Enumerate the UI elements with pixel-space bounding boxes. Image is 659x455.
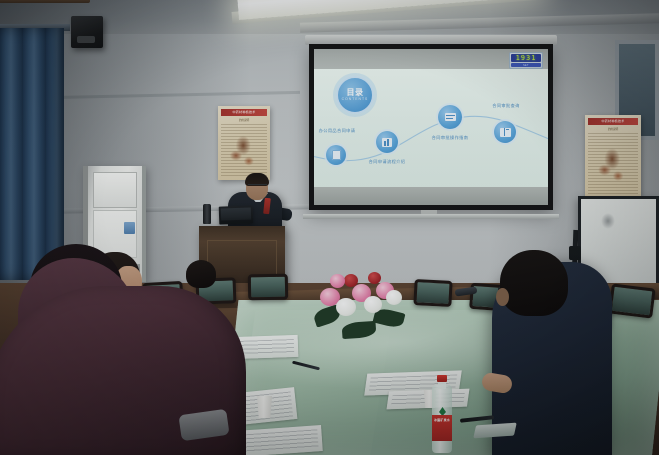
glasses-icon — [248, 184, 267, 189]
wall-poster-right: 中药材种植技术 约用说明 — [585, 115, 641, 197]
speaker-icon — [71, 16, 103, 48]
slide-step-4-node — [494, 121, 516, 143]
screen-shelf — [303, 214, 559, 219]
paper-text-lines — [239, 429, 318, 453]
poster-title: 中药材种植技术 — [588, 118, 638, 125]
bottle-label-text: 冰露矿泉水 — [432, 415, 452, 423]
slide-step-1-node — [326, 145, 346, 165]
thermos-flask[interactable] — [203, 204, 211, 224]
screen-bottom-band — [314, 187, 548, 205]
wall-poster-left: 中药材种植技术 约用说明 — [218, 106, 270, 180]
poster-subtitle: 约用说明 — [591, 127, 635, 131]
paper-cup[interactable] — [256, 396, 273, 418]
laptop[interactable] — [219, 205, 254, 224]
water-bottle[interactable]: 冰露矿泉水 — [432, 375, 452, 453]
poster-illustration — [224, 128, 264, 174]
chart-icon — [382, 138, 392, 147]
clock-face: 1931 — [511, 54, 541, 62]
conference-room-photo: 中药材种植技术 约用说明 中药材种植技术 约用说明 — [0, 0, 659, 455]
chair[interactable] — [248, 274, 288, 301]
flower-white — [336, 298, 356, 316]
contents-label-cn: 目录 — [347, 88, 364, 97]
flower-white — [386, 290, 402, 305]
bottle-cap — [437, 375, 447, 382]
attendee-far-left — [186, 260, 216, 288]
slide-step-1-label: 办公用品合同申请 — [314, 128, 360, 134]
poster-illustration — [592, 140, 635, 191]
chair[interactable] — [608, 283, 655, 318]
slide-step-3-node — [438, 105, 462, 129]
leaf — [341, 321, 376, 339]
blue-curtain — [0, 28, 64, 280]
bottle-label: 冰露矿泉水 — [432, 415, 452, 441]
whiteboard-clamp[interactable] — [569, 246, 581, 260]
clock-sub-label: SET — [523, 64, 529, 67]
projection-screen: 目录 CONTENTS 办公用品合同申请 合同申请流程介绍 合同审批操作指南 — [309, 44, 553, 210]
flower-pink — [330, 274, 345, 288]
slide-step-2-label: 合同申请流程介绍 — [362, 159, 412, 165]
poster-subtitle: 约用说明 — [224, 118, 264, 122]
open-book-icon — [500, 128, 511, 137]
slide-step-2-node — [376, 131, 398, 153]
poster-title: 中药材种植技术 — [221, 109, 267, 116]
attendee-right-head — [500, 250, 568, 316]
flower-white — [364, 296, 382, 313]
laptop-screen — [221, 207, 251, 220]
presentation-slide: 目录 CONTENTS 办公用品合同申请 合同申请流程介绍 合同审批操作指南 — [314, 69, 548, 187]
chair[interactable] — [413, 279, 452, 307]
flower-red-rose — [344, 274, 358, 287]
book-icon — [332, 150, 341, 160]
ac-vent — [93, 172, 137, 208]
clock-digits: 1931 — [516, 54, 537, 62]
slide-step-3-label: 合同审批操作指南 — [422, 135, 478, 141]
attendee-right-ear — [496, 288, 509, 306]
ac-badge-icon — [124, 222, 135, 234]
slide-contents-badge: 目录 CONTENTS — [336, 76, 374, 114]
paper-text-lines — [236, 339, 294, 356]
podium-top — [0, 0, 90, 3]
document-icon — [445, 113, 456, 121]
screen-surface: 目录 CONTENTS 办公用品合同申请 合同申请流程介绍 合同审批操作指南 — [314, 49, 548, 205]
digital-clock-display: 1931 SET — [509, 52, 543, 69]
flower-red-rose — [368, 272, 381, 284]
whiteboard-smudge — [601, 213, 615, 229]
slide-step-4-label: 合同审批查询 — [480, 103, 532, 109]
paper-document[interactable] — [235, 425, 323, 455]
contents-label-en: CONTENTS — [342, 97, 369, 102]
flower-centerpiece — [312, 258, 408, 340]
clock-sub-bar: SET — [511, 63, 541, 67]
